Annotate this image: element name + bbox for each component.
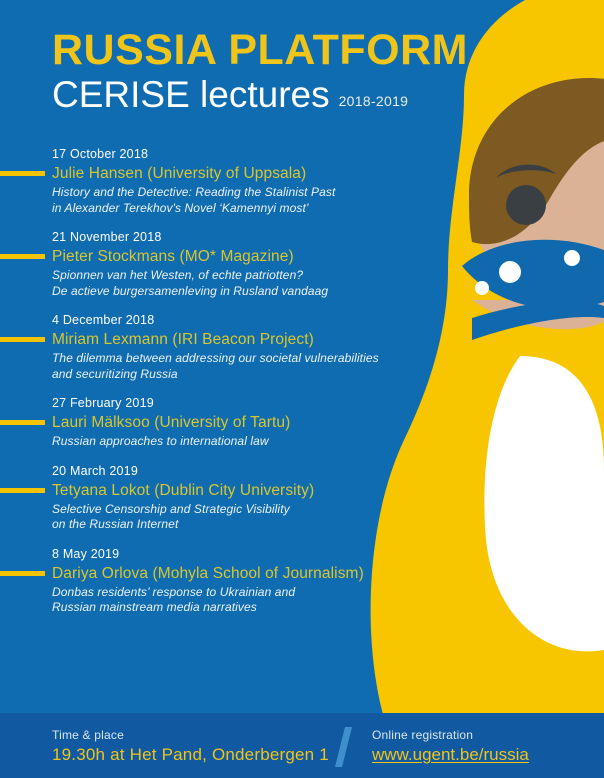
dash-marker-icon [0,254,45,259]
lecture-speaker: Dariya Orlova (Mohyla School of Journali… [52,563,364,584]
lecture-item: 4 December 2018 Miriam Lexmann (IRI Beac… [0,312,430,382]
lecture-description-line: Donbas residents’ response to Ukrainian … [52,585,430,601]
time-place-label: Time & place [52,727,329,743]
poster-title-main: RUSSIA PLATFORM [52,28,468,73]
lecture-description: The dilemma between addressing our socie… [52,351,430,382]
lecture-speaker: Julie Hansen (University of Uppsala) [52,163,306,184]
lecture-description: History and the Detective: Reading the S… [52,185,430,216]
lecture-name-row: Lauri Mälksoo (University of Tartu) [0,412,430,433]
poster: RUSSIA PLATFORM CERISE lectures 2018-201… [0,0,604,778]
lecture-date: 20 March 2019 [52,463,430,479]
lecture-name-row: Julie Hansen (University of Uppsala) [0,163,430,184]
lecture-description: Donbas residents’ response to Ukrainian … [52,585,430,616]
lecture-item: 17 October 2018 Julie Hansen (University… [0,146,430,216]
lecture-description-line: De actieve burgersamenleving in Rusland … [52,284,430,300]
time-place-value: 19.30h at Het Pand, Onderbergen 1 [52,744,329,766]
dash-marker-icon [0,571,45,576]
doll-mouth [512,268,580,287]
poster-footer: Time & place 19.30h at Het Pand, Onderbe… [0,713,604,778]
lecture-date: 8 May 2019 [52,546,430,562]
lecture-speaker: Pieter Stockmans (MO* Magazine) [52,246,294,267]
lecture-name-row: Miriam Lexmann (IRI Beacon Project) [0,329,430,350]
doll-stem [472,301,604,340]
dash-marker-icon [0,488,45,493]
doll-hair [469,78,604,244]
doll-apron [484,356,604,651]
doll-face [469,80,604,310]
poster-subtitle-row: CERISE lectures 2018-2019 [52,75,468,115]
lecture-name-row: Tetyana Lokot (Dublin City University) [0,480,430,501]
slash-divider-icon [335,727,352,767]
lecture-item: 21 November 2018 Pieter Stockmans (MO* M… [0,229,430,299]
poster-header: RUSSIA PLATFORM CERISE lectures 2018-201… [52,28,468,115]
lecture-description-line: in Alexander Terekhov's Novel ‘Kamennyi … [52,201,430,217]
dash-marker-icon [0,171,45,176]
lecture-name-row: Pieter Stockmans (MO* Magazine) [0,246,430,267]
lecture-description-line: Selective Censorship and Strategic Visib… [52,502,430,518]
lecture-description-line: Russian mainstream media narratives [52,600,430,616]
lecture-name-row: Dariya Orlova (Mohyla School of Journali… [0,563,430,584]
lecture-description-line: and securitizing Russia [52,367,430,383]
doll-dot-large [499,261,521,283]
poster-title-sub: CERISE lectures [52,75,330,115]
lecture-description-line: Russian approaches to international law [52,434,430,450]
dash-marker-icon [0,420,45,425]
doll-chin [472,300,604,329]
lecture-description: Russian approaches to international law [52,434,430,450]
lecture-description: Selective Censorship and Strategic Visib… [52,502,430,533]
footer-time-place: Time & place 19.30h at Het Pand, Onderbe… [52,727,329,766]
doll-eyebrow [496,165,556,178]
footer-registration: Online registration www.ugent.be/russia [372,727,529,766]
lecture-speaker: Tetyana Lokot (Dublin City University) [52,480,314,501]
lecture-speaker: Lauri Mälksoo (University of Tartu) [52,412,290,433]
poster-years: 2018-2019 [339,93,409,109]
lecture-description-line: on the Russian Internet [52,517,430,533]
lecture-description-line: Spionnen van het Westen, of echte patrio… [52,268,430,284]
doll-dot-small [475,281,489,295]
lecture-date: 4 December 2018 [52,312,430,328]
dash-marker-icon [0,337,45,342]
lecture-speaker: Miriam Lexmann (IRI Beacon Project) [52,329,314,350]
registration-label: Online registration [372,727,529,743]
doll-eye [506,185,546,225]
registration-link[interactable]: www.ugent.be/russia [372,744,529,766]
lecture-date: 21 November 2018 [52,229,430,245]
lecture-item: 20 March 2019 Tetyana Lokot (Dublin City… [0,463,430,533]
lecture-item: 27 February 2019 Lauri Mälksoo (Universi… [0,395,430,450]
lecture-description-line: History and the Detective: Reading the S… [52,185,430,201]
lecture-description: Spionnen van het Westen, of echte patrio… [52,268,430,299]
lecture-list: 17 October 2018 Julie Hansen (University… [0,146,430,629]
doll-leaf-decoration [462,240,604,309]
lecture-item: 8 May 2019 Dariya Orlova (Mohyla School … [0,546,430,616]
lecture-date: 17 October 2018 [52,146,430,162]
lecture-date: 27 February 2019 [52,395,430,411]
lecture-description-line: The dilemma between addressing our socie… [52,351,430,367]
doll-dot-medium [564,250,580,266]
